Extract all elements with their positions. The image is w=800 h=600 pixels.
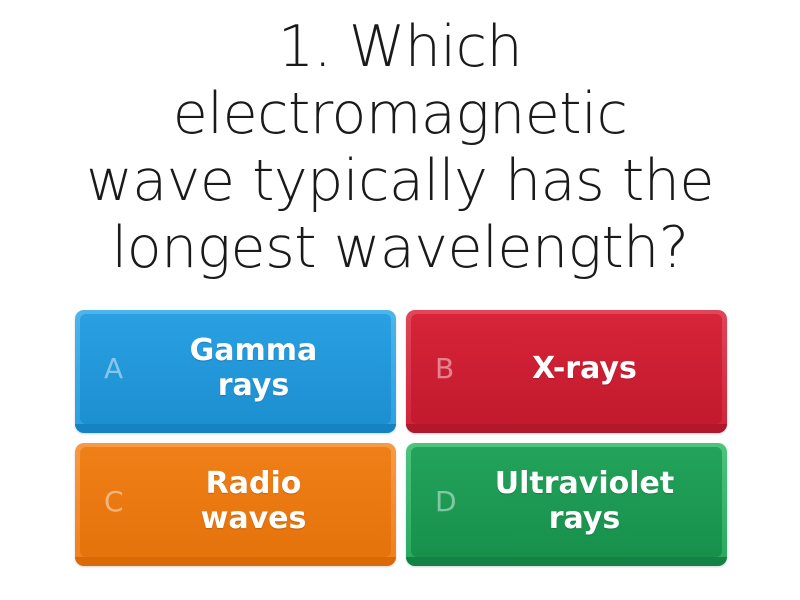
answer-label-c: Radio waves — [80, 467, 391, 537]
answer-option-a-surface: A Gamma rays — [80, 314, 391, 424]
answer-option-c-surface: C Radio waves — [80, 447, 391, 557]
answer-label-d: Ultraviolet rays — [411, 467, 722, 537]
answer-label-a: Gamma rays — [80, 334, 391, 404]
answer-label-b: X-rays — [411, 352, 722, 387]
question-text: 1. Which electromagnetic wave typically … — [80, 14, 720, 283]
answer-letter-c: C — [104, 488, 124, 516]
answer-letter-b: B — [435, 355, 454, 383]
answer-option-d[interactable]: D Ultraviolet rays — [406, 443, 727, 566]
question-area: 1. Which electromagnetic wave typically … — [0, 0, 800, 296]
answer-letter-d: D — [435, 488, 457, 516]
answer-letter-a: A — [104, 355, 123, 383]
answer-option-b-surface: B X-rays — [411, 314, 722, 424]
answer-option-d-surface: D Ultraviolet rays — [411, 447, 722, 557]
answer-option-c[interactable]: C Radio waves — [75, 443, 396, 566]
answer-option-a[interactable]: A Gamma rays — [75, 310, 396, 433]
answer-option-b[interactable]: B X-rays — [406, 310, 727, 433]
answer-options-grid: A Gamma rays B X-rays C Radio waves D Ul… — [75, 310, 727, 566]
